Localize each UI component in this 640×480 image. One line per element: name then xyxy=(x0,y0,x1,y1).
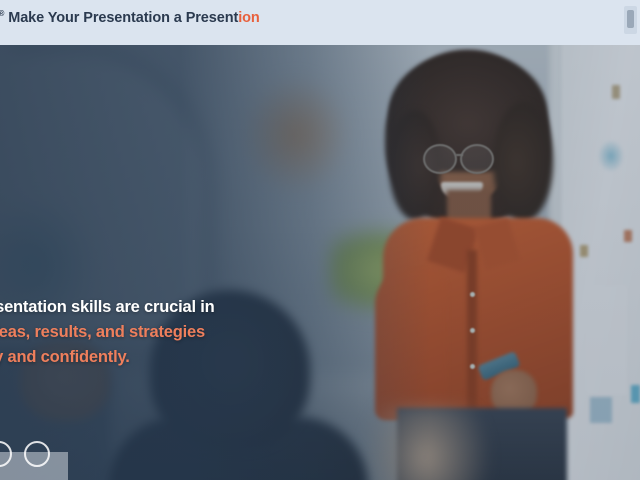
scrollbar-thumb[interactable] xyxy=(627,10,634,28)
page-root: Briefs® Make Your Presentation a Present… xyxy=(0,0,640,480)
hero-headline: tive presentation skills are crucial in … xyxy=(0,295,358,370)
presenter-blouse-button xyxy=(470,292,475,297)
page-title-accent: ion xyxy=(238,10,259,26)
carousel-dot-slide-1[interactable] xyxy=(0,441,12,467)
background-warm-accent xyxy=(240,75,350,195)
carousel-pagination[interactable] xyxy=(0,441,50,467)
hero-headline-line-3: pellingly and confidently. xyxy=(0,345,358,370)
hero-banner: tive presentation skills are crucial in … xyxy=(0,45,640,480)
carousel-dot-slide-2[interactable] xyxy=(24,441,50,467)
page-title: Briefs® Make Your Presentation a Present… xyxy=(0,5,388,27)
hero-headline-line-1: tive presentation skills are crucial in xyxy=(0,295,358,320)
presenter-hair-side-right xyxy=(493,102,553,222)
whiteboard-sticky-note xyxy=(612,85,620,99)
presenter-arm xyxy=(375,270,447,420)
presenter-glasses-bridge xyxy=(456,154,463,156)
whiteboard-diagram xyxy=(598,140,624,172)
presenter-glasses-lens-right xyxy=(460,144,494,174)
header-bar: Briefs® Make Your Presentation a Present… xyxy=(0,0,640,45)
whiteboard-sticky-note xyxy=(624,230,632,242)
page-title-main: Make Your Presentation a Present xyxy=(4,10,238,26)
presenter-glasses-lens-left xyxy=(423,144,457,174)
background-figure-blur xyxy=(360,405,490,480)
hero-headline-line-2: eying ideas, results, and strategies xyxy=(0,320,358,345)
presenter-blouse-button xyxy=(470,364,475,369)
whiteboard-blue-note xyxy=(631,385,640,403)
presenter-blouse-button xyxy=(470,328,475,333)
vertical-scrollbar[interactable] xyxy=(624,6,637,34)
